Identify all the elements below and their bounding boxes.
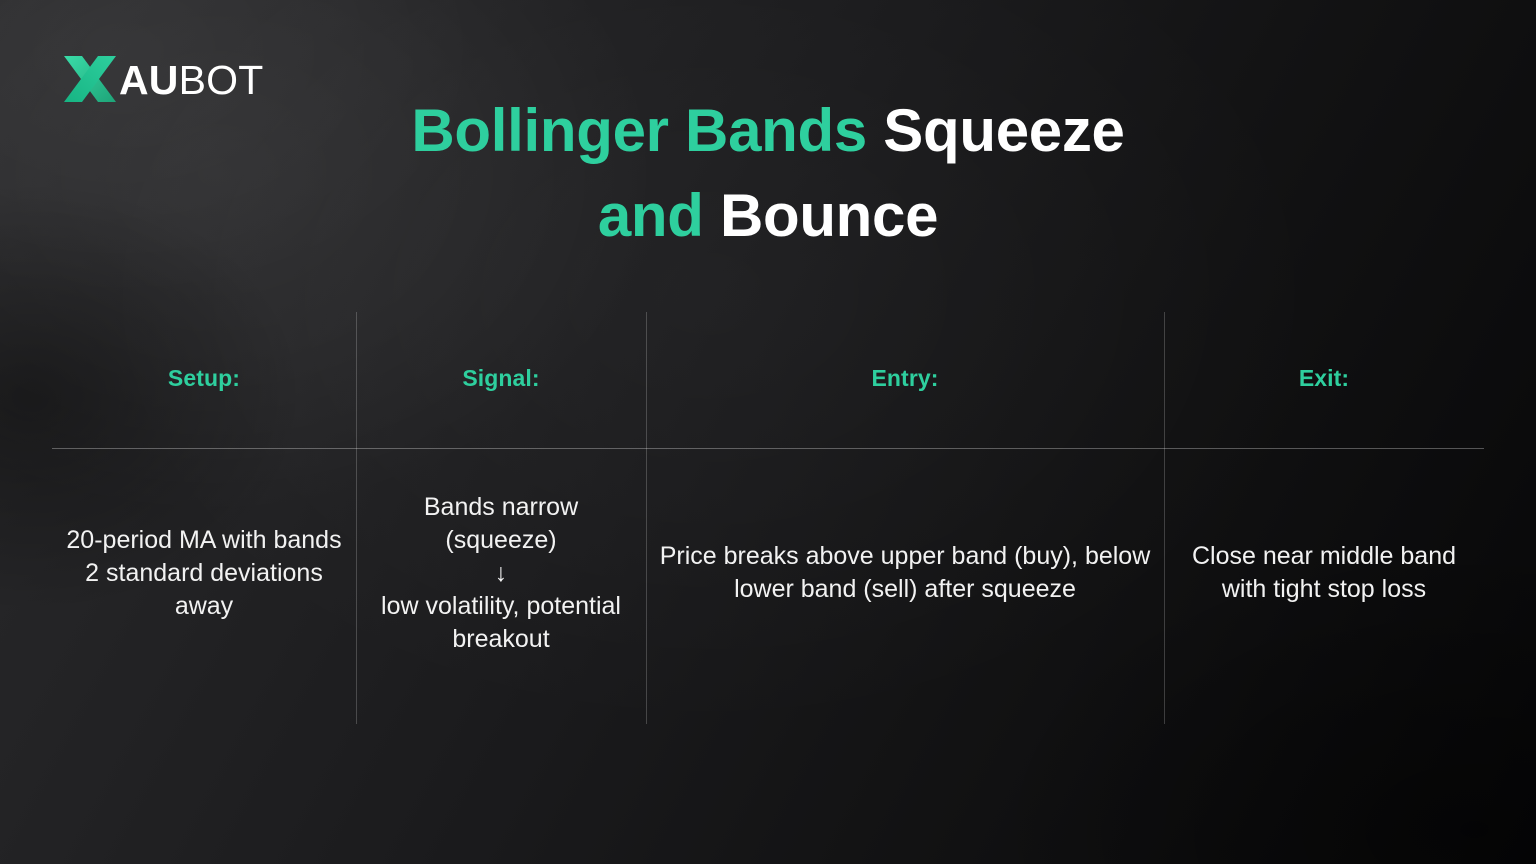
table-header-divider <box>52 448 1484 449</box>
wordmark-light: BOT <box>179 57 264 103</box>
column-header-entry: Entry: <box>646 312 1164 448</box>
title-line1-plain: Squeeze <box>883 97 1124 164</box>
brand-wordmark: AUBOT <box>119 60 264 101</box>
column-body-setup: 20-period MA with bands 2 standard devia… <box>52 448 356 724</box>
table-column-signal: Signal: Bands narrow (squeeze) ↓ low vol… <box>356 312 646 724</box>
column-body-exit: Close near middle band with tight stop l… <box>1164 448 1484 724</box>
page-title: Bollinger Bands Squeeze and Bounce <box>268 88 1268 258</box>
table-column-setup: Setup: 20-period MA with bands 2 standar… <box>52 312 356 724</box>
brand-logo: AUBOT <box>62 50 264 108</box>
xaubot-x-mark-icon <box>62 50 118 108</box>
column-header-exit: Exit: <box>1164 312 1484 448</box>
title-line1-accent: Bollinger Bands <box>411 97 883 164</box>
table-column-entry: Entry: Price breaks above upper band (bu… <box>646 312 1164 724</box>
wordmark-bold: AU <box>119 57 179 103</box>
title-line2-plain: Bounce <box>720 182 938 249</box>
title-line2-accent: and <box>598 182 720 249</box>
column-body-signal: Bands narrow (squeeze) ↓ low volatility,… <box>356 448 646 724</box>
column-header-setup: Setup: <box>52 312 356 448</box>
strategy-table: Setup: 20-period MA with bands 2 standar… <box>52 312 1484 724</box>
column-header-signal: Signal: <box>356 312 646 448</box>
column-body-entry: Price breaks above upper band (buy), bel… <box>646 448 1164 724</box>
table-column-exit: Exit: Close near middle band with tight … <box>1164 312 1484 724</box>
slide-canvas: AUBOT Bollinger Bands Squeeze and Bounce… <box>0 0 1536 864</box>
